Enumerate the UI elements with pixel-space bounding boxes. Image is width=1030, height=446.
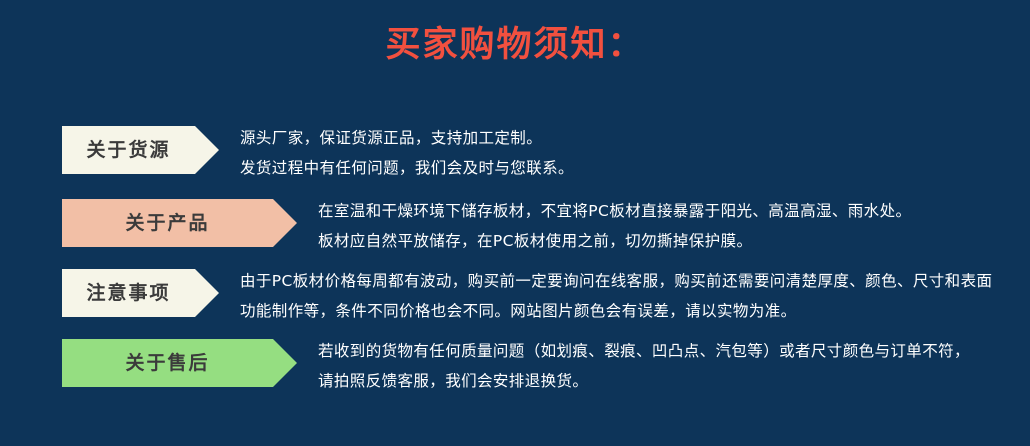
section-tag-label: 关于货源: [62, 126, 219, 174]
section-tag-label: 注意事项: [62, 269, 219, 317]
section-tag-label: 关于售后: [62, 339, 297, 387]
section-body: 由于PC板材价格每周都有波动，购买前一定要询问在线客服，购买前还需要问清楚厚度、…: [240, 266, 992, 326]
section-tag-source: 关于货源: [62, 126, 219, 174]
section-tag-precautions: 注意事项: [62, 269, 219, 317]
section-body-line: 由于PC板材价格每周都有波动，购买前一定要询问在线客服，购买前还需要问清楚厚度、…: [240, 266, 992, 296]
shopping-notice-banner: 买家购物须知： 关于货源 源头厂家，保证货源正品，支持加工定制。 发货过程中有任…: [0, 0, 1030, 446]
section-body: 若收到的货物有任何质量问题（如划痕、裂痕、凹凸点、汽包等）或者尺寸颜色与订单不符…: [318, 336, 970, 396]
section-tag-label: 关于产品: [62, 199, 297, 247]
section-tag-after-sales: 关于售后: [62, 339, 297, 387]
section-body-line: 在室温和干燥环境下储存板材，不宜将PC板材直接暴露于阳光、高温高湿、雨水处。: [318, 196, 911, 226]
section-body-line: 发货过程中有任何问题，我们会及时与您联系。: [240, 153, 574, 183]
section-body: 源头厂家，保证货源正品，支持加工定制。 发货过程中有任何问题，我们会及时与您联系…: [240, 123, 574, 183]
section-body-line: 源头厂家，保证货源正品，支持加工定制。: [240, 123, 574, 153]
section-body-line: 板材应自然平放储存，在PC板材使用之前，切勿撕掉保护膜。: [318, 226, 911, 256]
section-body-line: 请拍照反馈客服，我们会安排退换货。: [318, 366, 970, 396]
page-title: 买家购物须知：: [0, 22, 1030, 68]
section-body-line: 若收到的货物有任何质量问题（如划痕、裂痕、凹凸点、汽包等）或者尺寸颜色与订单不符…: [318, 336, 970, 366]
section-body: 在室温和干燥环境下储存板材，不宜将PC板材直接暴露于阳光、高温高湿、雨水处。 板…: [318, 196, 911, 256]
section-tag-product: 关于产品: [62, 199, 297, 247]
section-body-line: 功能制作等，条件不同价格也会不同。网站图片颜色会有误差，请以实物为准。: [240, 296, 992, 326]
